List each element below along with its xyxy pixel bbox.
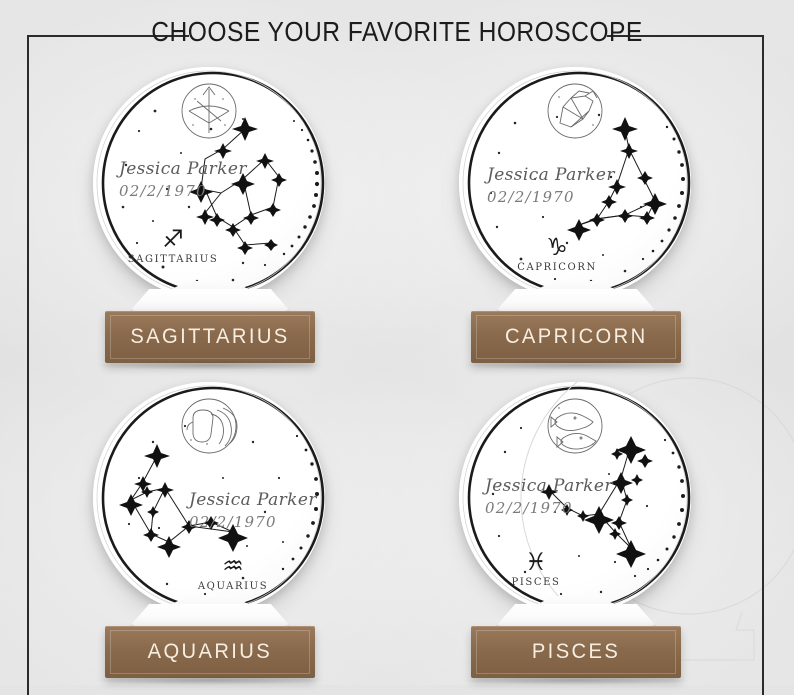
aquarius-glyph-icon: ♒ (183, 554, 283, 578)
engraved-name: Jessica Parker (485, 476, 613, 496)
acrylic-stand (496, 604, 656, 626)
engraved-dob: 02/2/1970 (485, 499, 613, 517)
base-label: SAGITTARIUS (130, 325, 289, 349)
pisces-glyph-icon: ♓ (491, 550, 581, 574)
acrylic-disc-sagittarius[interactable]: Jessica Parker 02/2/1970 ♐ SAGITTARIUS (85, 63, 335, 313)
sagittarius-glyph-icon: ♐ (123, 227, 223, 251)
wooden-base-aquarius[interactable]: AQUARIUS (105, 626, 315, 678)
water-vessel-emblem-icon (182, 399, 237, 453)
capricorn-glyph-icon: ♑ (507, 235, 607, 259)
acrylic-stand (496, 289, 656, 311)
engraved-name: Jessica Parker (189, 490, 317, 510)
base-label: CAPRICORN (505, 325, 648, 349)
goat-head-emblem-icon (548, 84, 602, 138)
acrylic-stand (130, 604, 290, 626)
base-drop-shadow (460, 676, 692, 685)
base-drop-shadow (460, 361, 692, 370)
acrylic-disc-capricorn[interactable]: Jessica Parker 02/2/1970 ♑ CAPRICORN (451, 63, 701, 313)
wooden-base-sagittarius[interactable]: SAGITTARIUS (105, 311, 315, 363)
engraved-dob: 02/2/1970 (487, 188, 615, 206)
disc-sign-label: PISCES (491, 577, 581, 588)
engraved-name: Jessica Parker (487, 165, 615, 185)
product-sagittarius[interactable]: Jessica Parker 02/2/1970 ♐ SAGITTARIUS S… (85, 63, 335, 363)
bow-and-arrow-emblem-icon (182, 84, 236, 138)
product-pisces[interactable]: Jessica Parker 02/2/1970 ♓ PISCES PISCES (451, 378, 701, 678)
disc-sign-label: SAGITTARIUS (123, 254, 223, 265)
wooden-base-pisces[interactable]: PISCES (471, 626, 681, 678)
acrylic-disc-pisces[interactable]: Jessica Parker 02/2/1970 ♓ PISCES (451, 378, 701, 628)
acrylic-stand (130, 289, 290, 311)
engraved-dob: 02/2/1970 (119, 182, 247, 200)
base-drop-shadow (94, 361, 326, 370)
base-drop-shadow (94, 676, 326, 685)
product-cell-pisces[interactable]: Jessica Parker 02/2/1970 ♓ PISCES PISCES (393, 370, 759, 685)
product-cell-sagittarius[interactable]: Jessica Parker 02/2/1970 ♐ SAGITTARIUS S… (27, 55, 393, 370)
product-grid: Jessica Parker 02/2/1970 ♐ SAGITTARIUS S… (27, 55, 760, 685)
product-capricorn[interactable]: Jessica Parker 02/2/1970 ♑ CAPRICORN CAP… (451, 63, 701, 363)
product-aquarius[interactable]: Jessica Parker 02/2/1970 ♒ AQUARIUS AQUA… (85, 378, 335, 678)
product-cell-capricorn[interactable]: Jessica Parker 02/2/1970 ♑ CAPRICORN CAP… (393, 55, 759, 370)
engraved-dob: 02/2/1970 (189, 513, 317, 531)
wooden-base-capricorn[interactable]: CAPRICORN (471, 311, 681, 363)
disc-sign-label: AQUARIUS (183, 581, 283, 592)
two-fish-emblem-icon (548, 399, 602, 453)
product-cell-aquarius[interactable]: Jessica Parker 02/2/1970 ♒ AQUARIUS AQUA… (27, 370, 393, 685)
base-label: AQUARIUS (148, 640, 273, 664)
acrylic-disc-aquarius[interactable]: Jessica Parker 02/2/1970 ♒ AQUARIUS (85, 378, 335, 628)
engraved-name: Jessica Parker (119, 159, 247, 179)
disc-sign-label: CAPRICORN (507, 262, 607, 273)
base-label: PISCES (532, 640, 620, 664)
page-title: CHOOSE YOUR FAVORITE HOROSCOPE (48, 16, 747, 48)
